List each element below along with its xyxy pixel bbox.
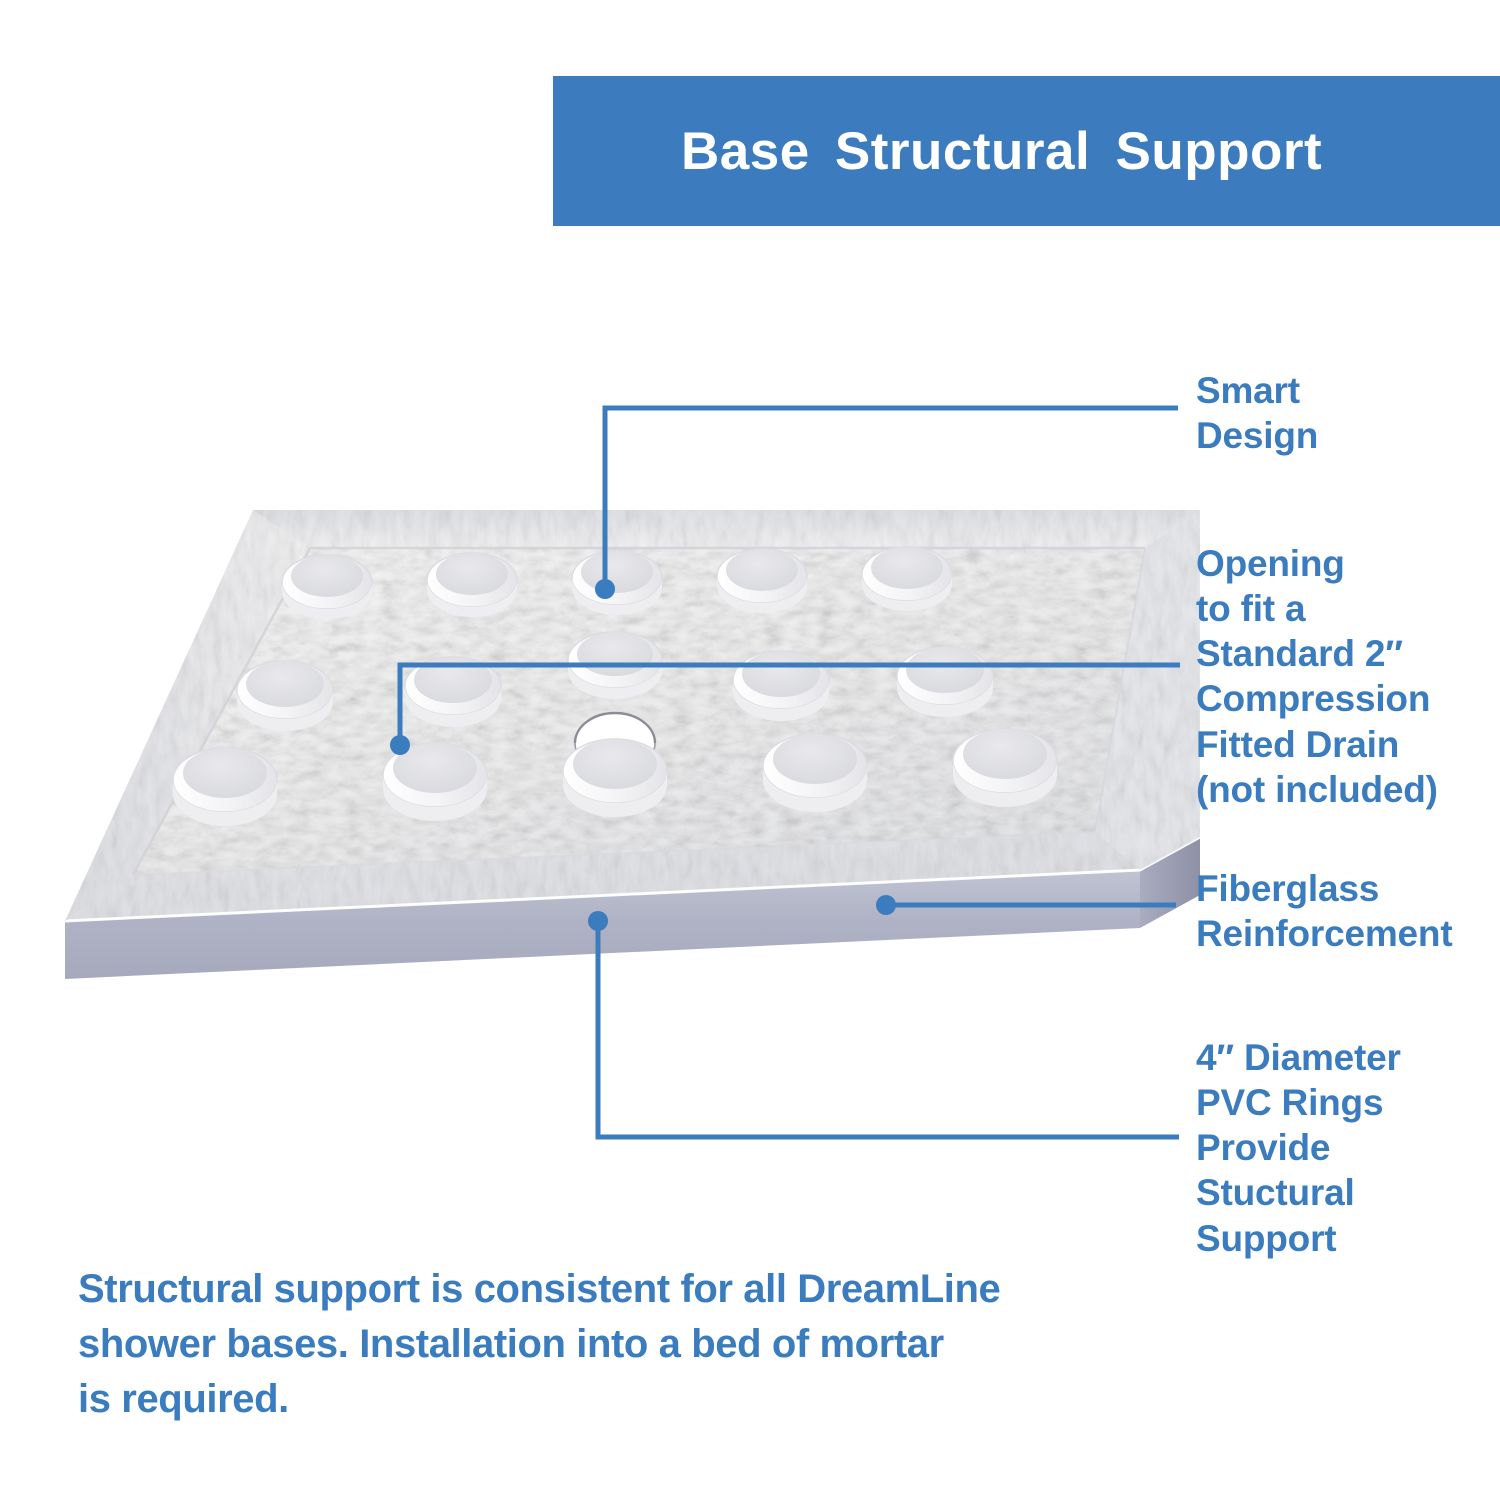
pvc-ring [897,647,993,717]
pvc-ring [568,632,662,699]
page-title: Base Structural Support [681,121,1322,182]
pvc-ring [563,739,667,817]
pvc-ring [237,661,333,731]
pvc-ring [862,547,952,611]
pvc-ring [427,553,517,617]
pvc-ring [717,549,807,613]
pvc-ring [953,729,1057,807]
pvc-ring [572,551,662,615]
footer-note: Structural support is consistent for all… [78,1262,1038,1428]
pvc-ring [733,651,829,721]
product-illustration [55,480,1205,1040]
callout-label-fiberglass: Fiberglass Reinforcement [1196,866,1452,956]
callout-label-pvc-rings: 4″ Diameter PVC Rings Provide Stuctural … [1196,1035,1401,1261]
pvc-ring [383,743,487,821]
pvc-ring [173,748,277,826]
pvc-ring [282,555,372,619]
callout-label-drain-opening: Opening to fit a Standard 2″ Compression… [1196,541,1438,812]
header-banner: Base Structural Support [553,76,1500,226]
shower-base-graphic [55,480,1205,1040]
pvc-ring [405,657,501,727]
callout-label-smart-design: Smart Design [1196,368,1318,458]
pvc-ring [763,734,867,812]
